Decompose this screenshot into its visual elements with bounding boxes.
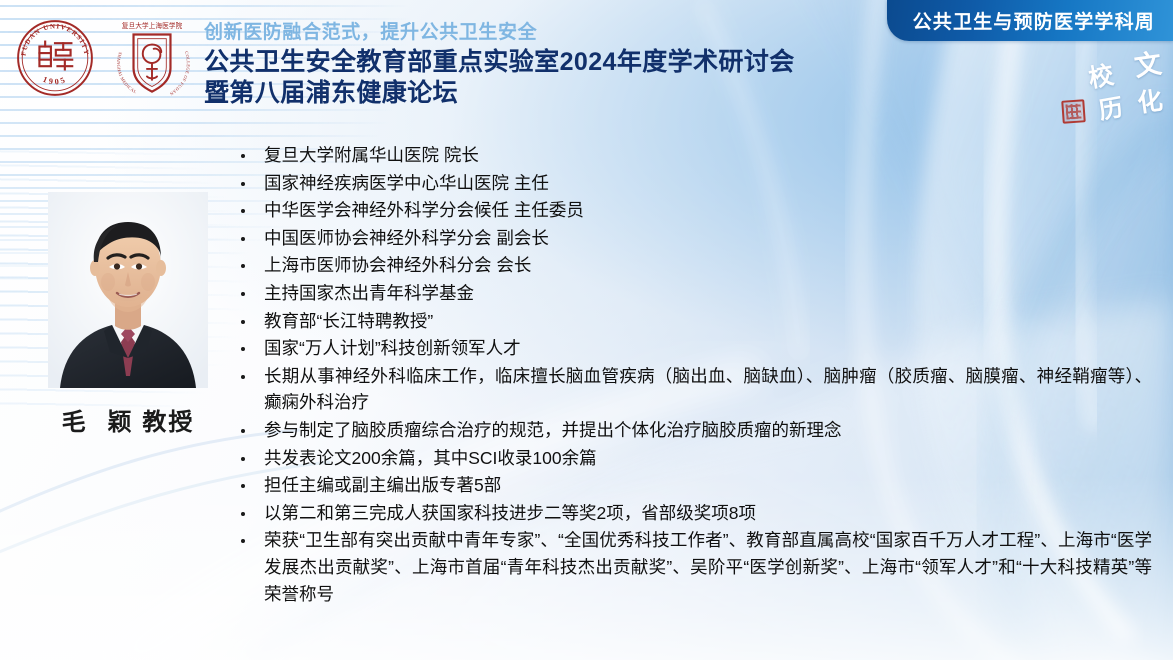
slide-title-line-2: 暨第八届浦东健康论坛 bbox=[204, 78, 795, 109]
speaker-title: 教授 bbox=[142, 409, 194, 436]
shanghai-medical-college-logo: 复旦大学上海医学院 SHANGHAI MEDICAL COLLEGE OF FU… bbox=[110, 16, 194, 100]
list-item: 长期从事神经外科临床工作，临床擅长脑血管疾病（脑出血、脑缺血）、脑肿瘤（胶质瘤、… bbox=[232, 363, 1152, 416]
discipline-week-badge: 公共卫生与预防医学学科周 bbox=[887, 0, 1173, 41]
list-item: 中国医师协会神经外科学分会 副会长 bbox=[232, 225, 1152, 252]
speaker-bio-list: 复旦大学附属华山医院 院长 国家神经疾病医学中心华山医院 主任 中华医学会神经外… bbox=[232, 142, 1152, 608]
title-block: 创新医防融合范式，提升公共卫生安全 公共卫生安全教育部重点实验室2024年度学术… bbox=[204, 22, 795, 109]
svg-text:COLLEGE OF FUDAN: COLLEGE OF FUDAN bbox=[168, 51, 191, 97]
list-item: 国家神经疾病医学中心华山医院 主任 bbox=[232, 170, 1152, 197]
svg-text:复旦大学上海医学院: 复旦大学上海医学院 bbox=[122, 21, 183, 30]
list-item: 教育部“长江特聘教授” bbox=[232, 308, 1152, 335]
list-item: 以第二和第三完成人获国家科技进步二等奖2项，省部级奖项8项 bbox=[232, 500, 1152, 527]
speaker-portrait-image bbox=[48, 192, 208, 388]
list-item: 国家“万人计划”科技创新领军人才 bbox=[232, 335, 1152, 362]
slide-subtitle: 创新医防融合范式，提升公共卫生安全 bbox=[204, 22, 795, 44]
list-item: 参与制定了脑胶质瘤综合治疗的规范，并提出个体化治疗脑胶质瘤的新理念 bbox=[232, 417, 1152, 444]
speaker-name: 毛颖 教授 bbox=[30, 402, 226, 437]
speaker-given-name: 颖 bbox=[108, 409, 134, 436]
presentation-slide: 公共卫生与预防医学学科周 文 化 校 历 FUDAN UNIVERSITY bbox=[0, 0, 1173, 660]
list-item: 主持国家杰出青年科学基金 bbox=[232, 280, 1152, 307]
list-item: 上海市医师协会神经外科分会 会长 bbox=[232, 252, 1152, 279]
speaker-block: 毛颖 教授 bbox=[30, 192, 226, 437]
list-item: 共发表论文200余篇，其中SCI收录100余篇 bbox=[232, 445, 1152, 472]
list-item: 担任主编或副主编出版专著5部 bbox=[232, 472, 1152, 499]
list-item: 复旦大学附属华山医院 院长 bbox=[232, 142, 1152, 169]
discipline-week-badge-label: 公共卫生与预防医学学科周 bbox=[913, 7, 1155, 34]
logo-group: FUDAN UNIVERSITY 1905 bbox=[14, 16, 194, 100]
svg-text:1905: 1905 bbox=[42, 75, 69, 87]
slide-title-line-1: 公共卫生安全教育部重点实验室2024年度学术研讨会 bbox=[204, 47, 795, 78]
speaker-surname: 毛 bbox=[62, 409, 88, 436]
list-item: 中华医学会神经外科学分会候任 主任委员 bbox=[232, 197, 1152, 224]
speaker-portrait bbox=[48, 192, 208, 388]
list-item: 荣获“卫生部有突出贡献中青年专家”、“全国优秀科技工作者”、教育部直属高校“国家… bbox=[232, 527, 1152, 607]
fudan-university-logo: FUDAN UNIVERSITY 1905 bbox=[14, 17, 96, 99]
